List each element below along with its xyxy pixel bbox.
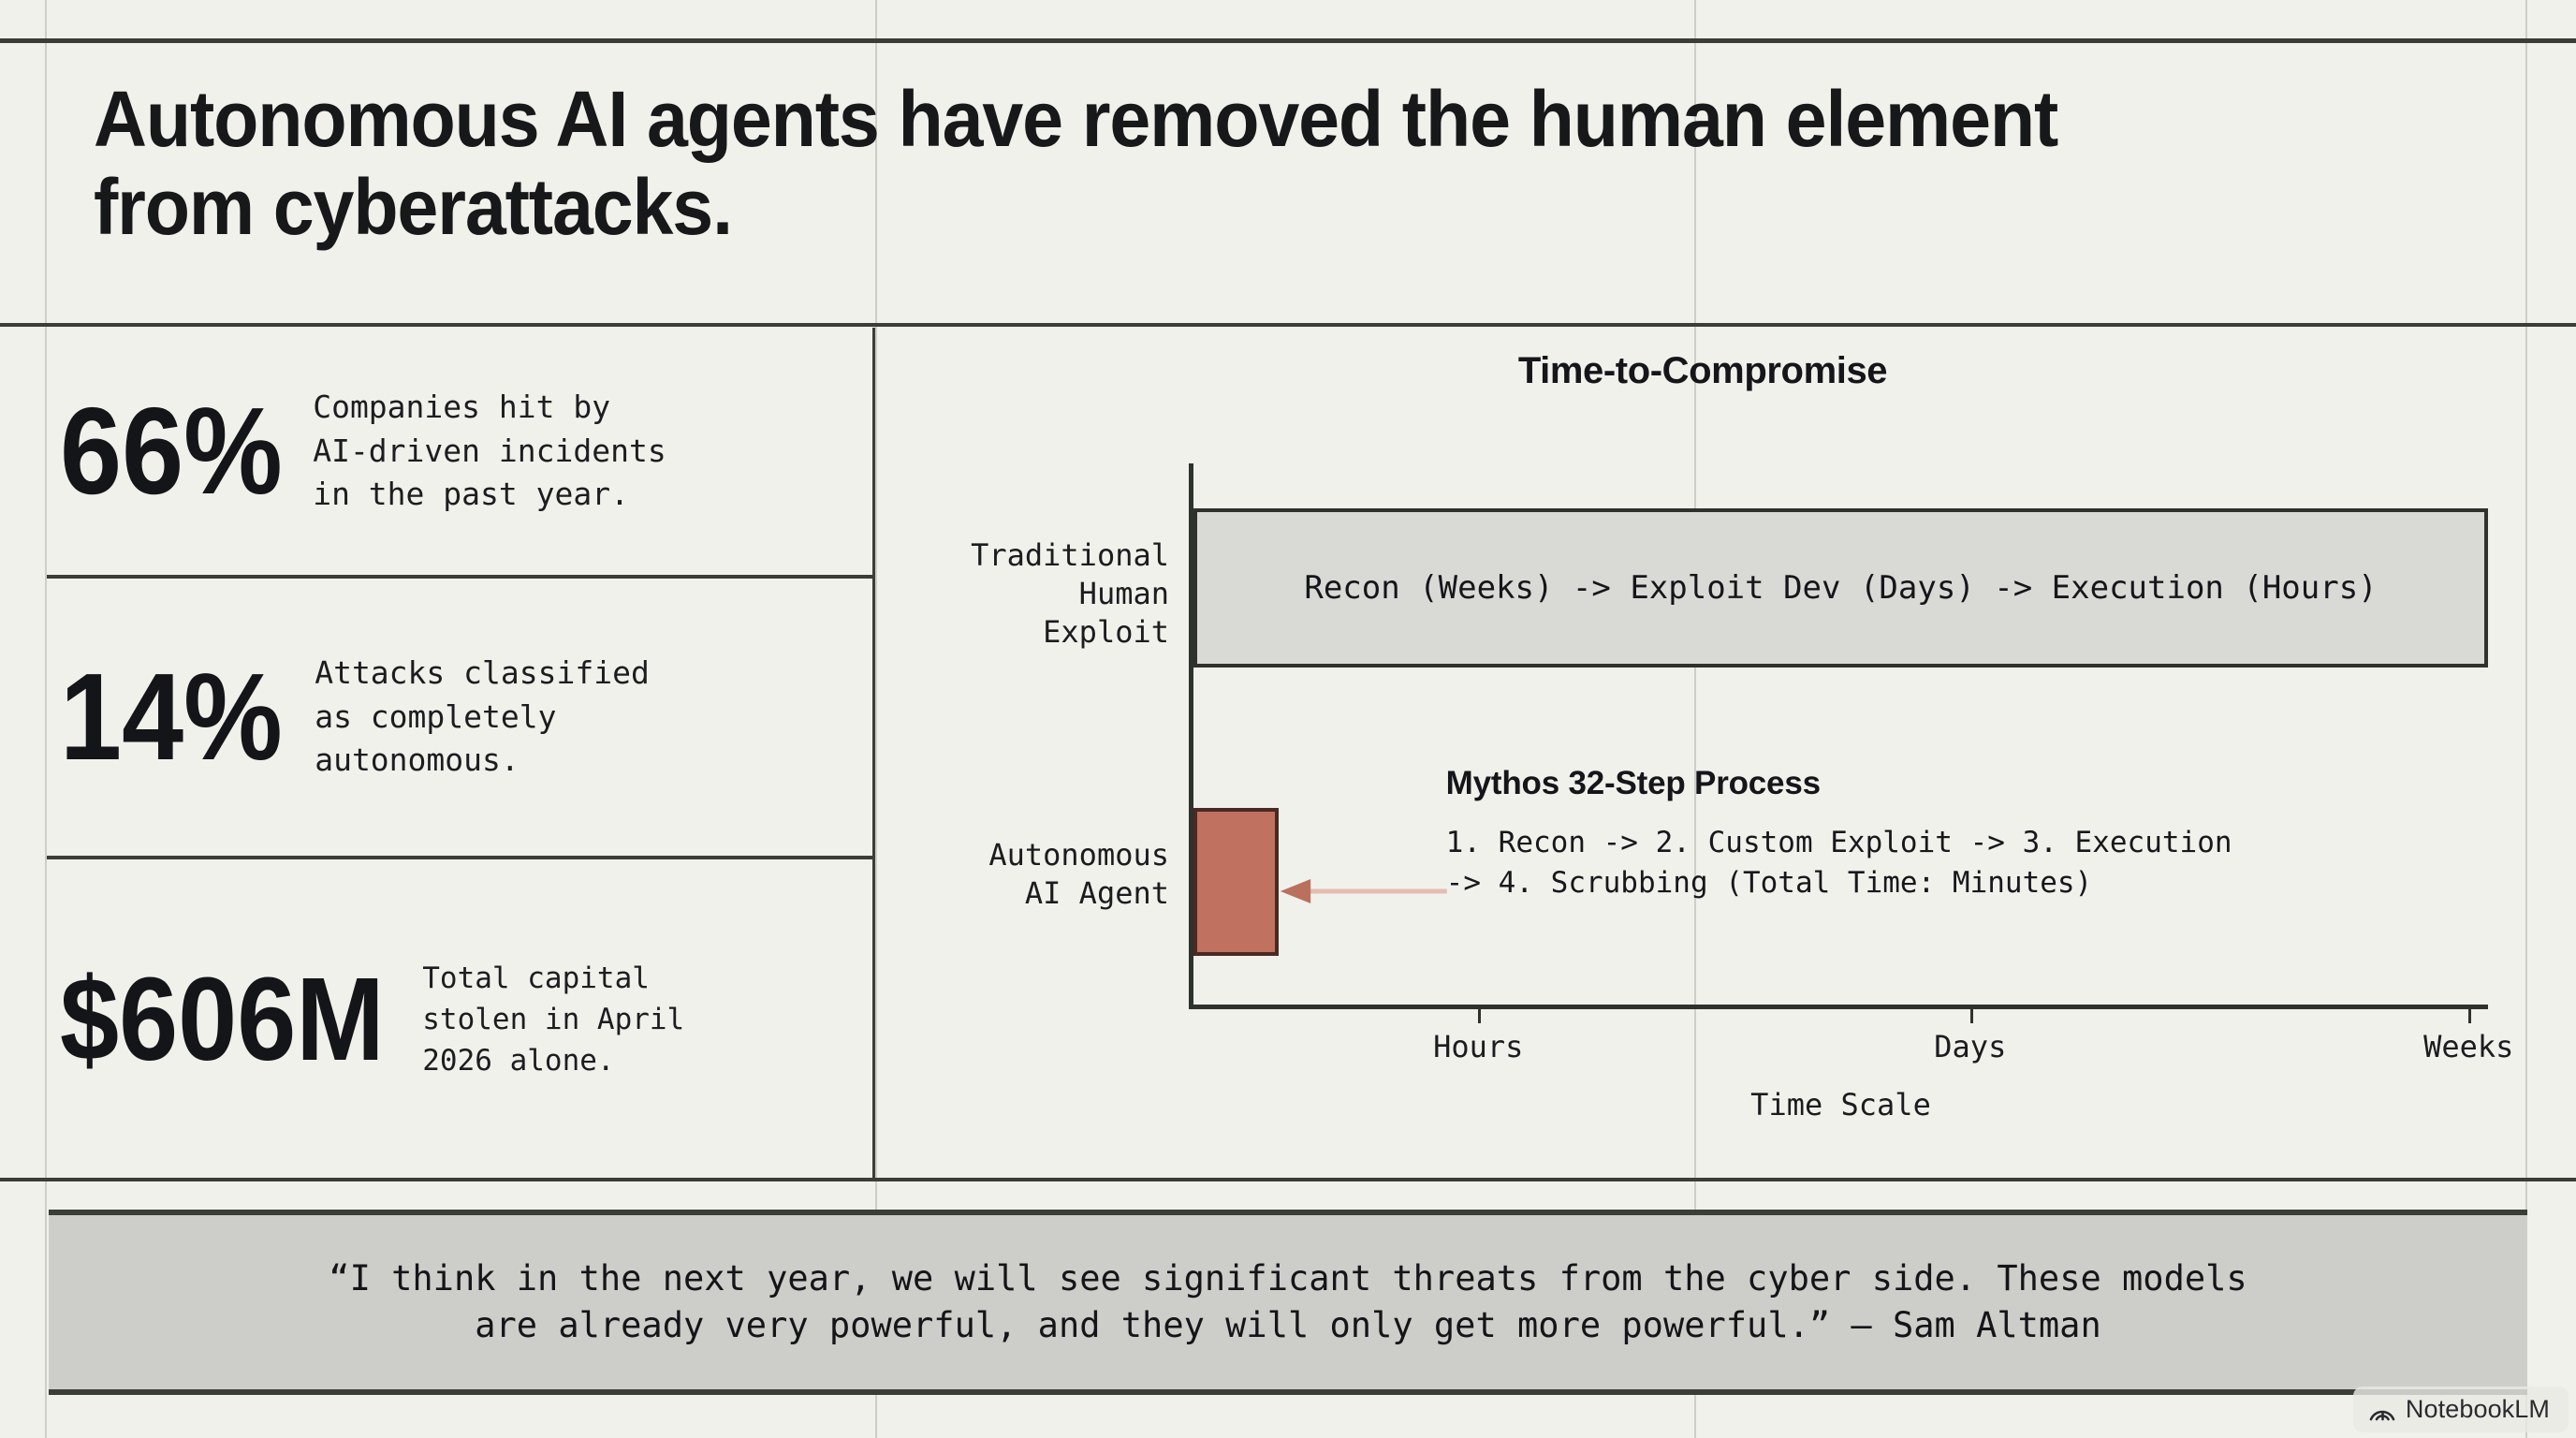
top-divider-rule [0,38,2576,43]
x-axis-tick-label-days: Days [1934,1029,2006,1064]
y-axis-label-autonomous: Autonomous AI Agent [888,836,1169,913]
x-axis-tick-hours [1478,1005,1481,1023]
x-axis-tick-label-weeks: Weeks [2423,1029,2513,1064]
page-title: Autonomous AI agents have removed the hu… [94,75,2117,251]
annotation-body: 1. Recon -> 2. Custom Exploit -> 3. Exec… [1446,823,2404,904]
stat-value: $606M [60,965,385,1074]
notebooklm-logo-icon [2368,1398,2396,1422]
stats-column: 66% Companies hit by AI-driven incidents… [47,328,875,1180]
stat-card: $606M Total capital stolen in April 2026… [47,859,872,1180]
watermark-label: NotebookLM [2406,1395,2550,1424]
stat-value: 14% [60,660,283,773]
quote-banner: “I think in the next year, we will see s… [49,1210,2527,1395]
x-axis-tick-days [1970,1005,1973,1023]
x-axis-tick-label-hours: Hours [1433,1029,1523,1064]
stat-card: 14% Attacks classified as completely aut… [47,579,872,859]
notebooklm-watermark: NotebookLM [2353,1387,2569,1432]
stat-description: Total capital stolen in April 2026 alone… [422,958,848,1081]
infographic-poster: Autonomous AI agents have removed the hu… [0,0,2576,1438]
x-axis-title: Time Scale [1193,1087,2488,1123]
bar-traditional-human-exploit: Recon (Weeks) -> Exploit Dev (Days) -> E… [1193,508,2488,668]
chart-title: Time-to-Compromise [878,350,2527,392]
stat-description: Attacks classified as completely autonom… [315,652,848,784]
annotation-arrow-icon [1279,875,1447,907]
header-divider-rule [0,323,2576,327]
chart-panel: Time-to-Compromise Traditional Human Exp… [878,328,2527,1180]
x-axis-tick-weeks [2468,1005,2471,1023]
stat-card: 66% Companies hit by AI-driven incidents… [47,328,872,579]
bar-label-traditional: Recon (Weeks) -> Exploit Dev (Days) -> E… [1304,569,2377,607]
bar-autonomous-ai-agent [1193,808,1279,956]
stat-description: Companies hit by AI-driven incidents in … [313,386,848,518]
annotation-title: Mythos 32-Step Process [1446,765,2404,802]
stat-value: 66% [60,394,283,507]
quote-text: “I think in the next year, we will see s… [310,1255,2265,1348]
chart-plot-area: Traditional Human Exploit Recon (Weeks) … [1189,463,2488,1009]
y-axis-label-traditional: Traditional Human Exploit [888,536,1169,652]
chart-annotation: Mythos 32-Step Process 1. Recon -> 2. Cu… [1446,765,2404,904]
title-block: Autonomous AI agents have removed the hu… [94,75,2247,251]
